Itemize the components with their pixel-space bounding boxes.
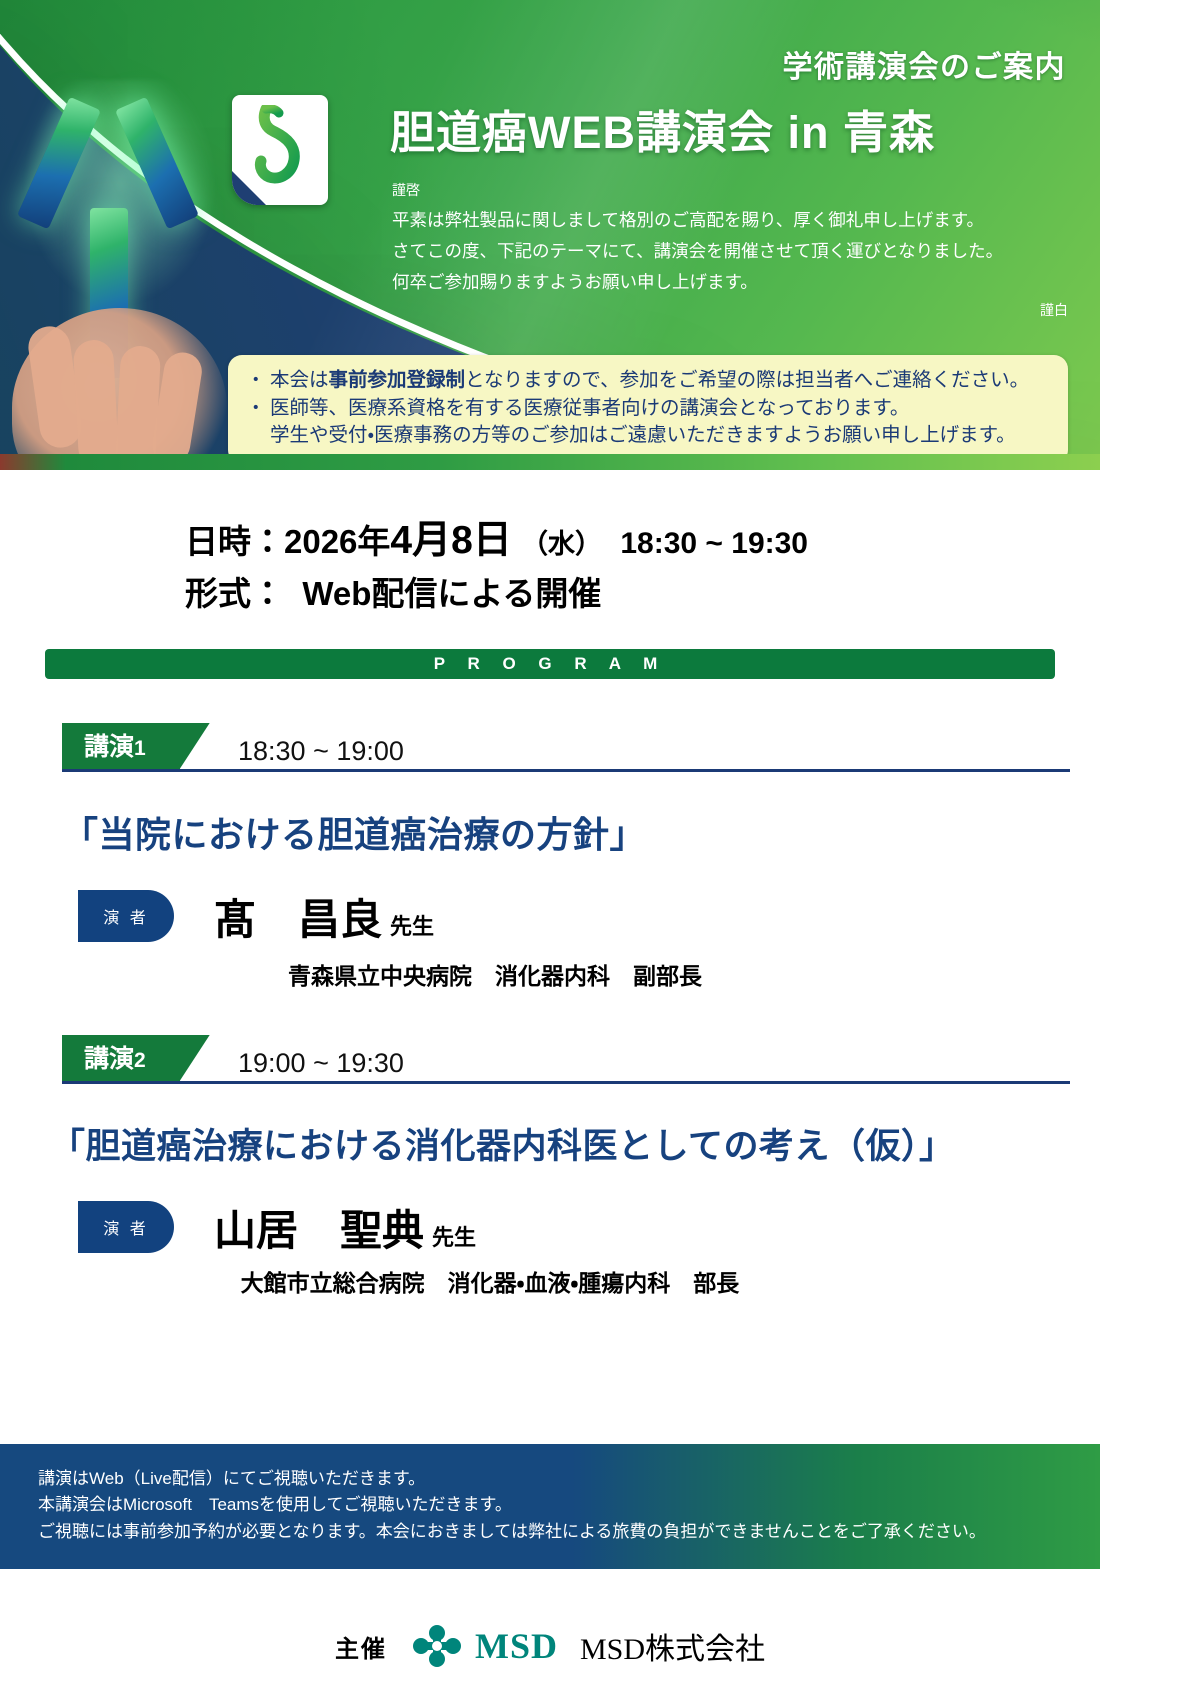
format-label: 形式： (185, 575, 284, 612)
format-row: 形式： Web配信による開催 (185, 570, 1100, 619)
hero-header: 学術講演会のご案内 胆道癌WEB講演会 in 青森 謹啓 平素は弊社製品に関しま… (0, 0, 1100, 470)
datetime-block: 日時：2026年4月8日 （水） 18:30 ~ 19:30 形式： Web配信… (0, 512, 1100, 619)
session-1-affiliation: 青森県立中央病院 消化器内科 副部長 (0, 957, 1100, 991)
date-year: 2026年 (284, 523, 390, 560)
session-1-number: 1 (134, 737, 146, 760)
date-month: 4月 (390, 519, 451, 562)
flyer-page: 学術講演会のご案内 胆道癌WEB講演会 in 青森 謹啓 平素は弊社製品に関しま… (0, 0, 1100, 1697)
footer-note-line: 本講演会はMicrosoft Teamsを使用してご視聴いただきます。 (0, 1492, 1100, 1518)
session-2-speaker-name: 山居 聖典先生 (214, 1197, 476, 1258)
session-1-speaker-name-text: 髙 昌良 (214, 896, 382, 943)
notice-item-2: 医師等、医療系資格を有する医療従事者向けの講演会となっております。 (244, 395, 1052, 423)
greeting-line: 何卒ご参加賜りますようお願い申し上げます。 (392, 267, 1052, 298)
greeting-line: さてこの度、下記のテーマにて、講演会を開催させて頂く運びとなりました。 (392, 236, 1052, 267)
footer-note-line: 講演はWeb（Live配信）にてご視聴いただきます。 (0, 1466, 1100, 1492)
format-value: Web配信による開催 (302, 575, 601, 612)
session-1-time: 18:30 ~ 19:00 (238, 736, 404, 769)
session-1-rule (62, 769, 1070, 772)
session-2-time: 19:00 ~ 19:30 (238, 1048, 404, 1081)
session-1-tag: 講演1 (62, 723, 180, 769)
session-1-speaker-badge: 演 者 (78, 890, 174, 942)
notice-item-1-a: 本会は (270, 369, 329, 391)
date-time: 18:30 ~ 19:30 (620, 527, 808, 560)
greeting-line: 平素は弊社製品に関しまして格別のご高配を賜り、厚く御礼申し上げます。 (392, 205, 1052, 236)
hand-finger (73, 339, 120, 469)
footer-notes-band: 講演はWeb（Live配信）にてご視聴いただきます。 本講演会はMicrosof… (0, 1444, 1100, 1569)
msd-logo: MSD (409, 1623, 558, 1669)
date-day: 8日 (451, 519, 512, 562)
session-2-affiliation: 大館市立総合病院 消化器・血液・腫瘍内科 部長 (0, 1264, 1100, 1298)
notice-item-2-continued: 学生や受付・医療事務の方等のご参加はご遠慮いただきますようお願い申し上げます。 (244, 422, 1052, 450)
notice-item-1-c: となりますので、参加をご希望の際は担当者へご連絡ください。 (465, 369, 1029, 391)
sessions-list: 講演1 18:30 ~ 19:00 「当院における胆道癌治療の方針」 演 者 髙… (0, 723, 1100, 1298)
notice-item-1-bold: 事前参加登録制 (329, 369, 466, 391)
program-banner: P R O G R A M (45, 649, 1055, 679)
session-1: 講演1 18:30 ~ 19:00 「当院における胆道癌治療の方針」 演 者 髙… (0, 723, 1100, 991)
hero-kicker: 学術講演会のご案内 (783, 42, 1067, 86)
session-2-speaker-name-text: 山居 聖典 (214, 1207, 424, 1254)
greeting-block: 謹啓 平素は弊社製品に関しまして格別のご高配を賜り、厚く御礼申し上げます。 さて… (392, 178, 1052, 298)
session-1-speaker-row: 演 者 髙 昌良先生 (78, 886, 1100, 947)
hero-bottom-strip (0, 454, 1100, 470)
session-1-header: 講演1 18:30 ~ 19:00 (62, 723, 1070, 769)
msd-mark-icon (409, 1623, 465, 1669)
date-label: 日時： (185, 523, 284, 560)
session-2-speaker-badge: 演 者 (78, 1201, 174, 1253)
notice-box: 本会は事前参加登録制となりますので、参加をご希望の際は担当者へご連絡ください。 … (228, 355, 1068, 464)
greeting-closing: 謹白 (1040, 300, 1068, 320)
notice-item-1: 本会は事前参加登録制となりますので、参加をご希望の際は担当者へご連絡ください。 (244, 367, 1052, 395)
session-1-honorific: 先生 (390, 914, 434, 939)
sponsor-label: 主催 (335, 1629, 387, 1664)
date-row: 日時：2026年4月8日 （水） 18:30 ~ 19:30 (185, 512, 1100, 570)
session-2-title: 「胆道癌治療における消化器内科医としての考え（仮）」 (50, 1118, 1100, 1169)
session-2-honorific: 先生 (432, 1225, 476, 1250)
session-2-number: 2 (134, 1049, 146, 1072)
session-1-title: 「当院における胆道癌治療の方針」 (62, 806, 1100, 858)
session-1-tag-label: 講演 (84, 733, 134, 761)
session-1-speaker-name: 髙 昌良先生 (214, 886, 434, 947)
date-weekday: （水） (521, 529, 602, 559)
session-2-tag: 講演2 (62, 1035, 180, 1081)
sponsor-row: 主催 MSD MSD株式会社 (0, 1623, 1100, 1669)
session-2: 講演2 19:00 ~ 19:30 「胆道癌治療における消化器内科医としての考え… (0, 1035, 1100, 1298)
greeting-salutation: 謹啓 (392, 178, 1052, 203)
session-2-speaker-row: 演 者 山居 聖典先生 (78, 1197, 1100, 1258)
page-title: 胆道癌WEB講演会 in 青森 (390, 96, 935, 161)
msd-wordmark: MSD (475, 1625, 558, 1667)
stomach-icon (232, 95, 328, 205)
y-sculpture-artwork (20, 90, 230, 470)
session-2-rule (62, 1081, 1070, 1084)
footer-note-line: ご視聴には事前参加予約が必要となります。本会におきましては弊社による旅費の負担が… (0, 1519, 1100, 1545)
sponsor-company-name: MSD株式会社 (580, 1624, 765, 1668)
session-2-tag-label: 講演 (84, 1045, 134, 1073)
session-2-header: 講演2 19:00 ~ 19:30 (62, 1035, 1070, 1081)
